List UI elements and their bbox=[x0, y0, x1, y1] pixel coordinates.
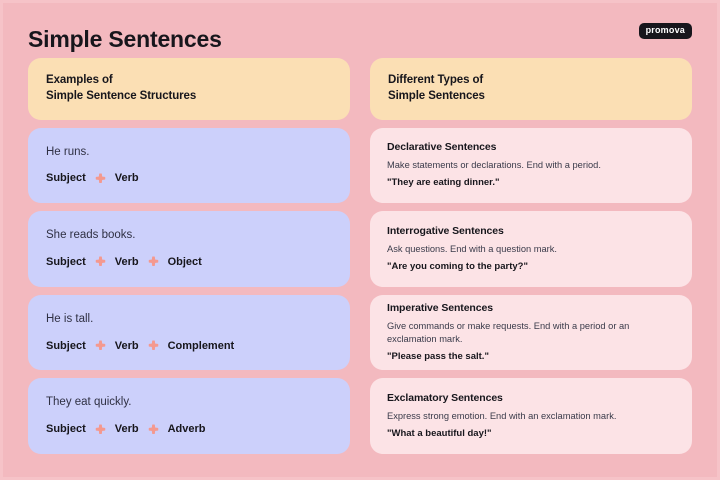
formula-term: Subject bbox=[46, 172, 86, 184]
structure-formula: Subject Verb Complement bbox=[46, 340, 332, 352]
formula-term: Verb bbox=[115, 423, 139, 435]
page-title: Simple Sentences bbox=[28, 20, 222, 51]
sentence-type-title: Declarative Sentences bbox=[387, 141, 676, 154]
plus-icon bbox=[148, 340, 159, 351]
left-column-header: Examples of Simple Sentence Structures bbox=[28, 58, 350, 120]
header-bar: Simple Sentences promova bbox=[28, 20, 692, 58]
right-header-line-2: Simple Sentences bbox=[388, 88, 674, 104]
infographic-page: Simple Sentences promova Examples of Sim… bbox=[0, 0, 720, 480]
sentence-type-title: Interrogative Sentences bbox=[387, 225, 676, 238]
formula-term: Subject bbox=[46, 256, 86, 268]
structure-example: She reads books. bbox=[46, 229, 332, 243]
formula-term: Subject bbox=[46, 423, 86, 435]
sentence-type-description: Ask questions. End with a question mark. bbox=[387, 243, 676, 256]
structure-formula: Subject Verb bbox=[46, 172, 332, 184]
formula-term: Verb bbox=[115, 340, 139, 352]
sentence-type-card: Interrogative Sentences Ask questions. E… bbox=[370, 211, 692, 287]
structure-card: They eat quickly. Subject Verb Adverb bbox=[28, 378, 350, 454]
plus-icon bbox=[148, 424, 159, 435]
formula-term: Verb bbox=[115, 172, 139, 184]
structure-example: He is tall. bbox=[46, 313, 332, 327]
sentence-type-description: Make statements or declarations. End wit… bbox=[387, 159, 676, 172]
plus-icon bbox=[148, 256, 159, 267]
formula-term: Object bbox=[168, 256, 202, 268]
sentence-type-example: "Please pass the salt." bbox=[387, 351, 676, 363]
right-column-header: Different Types of Simple Sentences bbox=[370, 58, 692, 120]
structure-formula: Subject Verb Adverb bbox=[46, 423, 332, 435]
structure-card: He runs. Subject Verb bbox=[28, 128, 350, 204]
sentence-type-title: Imperative Sentences bbox=[387, 302, 676, 315]
structure-example: He runs. bbox=[46, 146, 332, 160]
sentence-type-description: Give commands or make requests. End with… bbox=[387, 320, 676, 346]
plus-icon bbox=[95, 173, 106, 184]
plus-icon bbox=[95, 256, 106, 267]
formula-term: Subject bbox=[46, 340, 86, 352]
formula-term: Complement bbox=[168, 340, 235, 352]
plus-icon bbox=[95, 340, 106, 351]
structure-card: He is tall. Subject Verb Complement bbox=[28, 295, 350, 371]
sentence-type-card: Imperative Sentences Give commands or ma… bbox=[370, 295, 692, 371]
promova-logo: promova bbox=[639, 23, 692, 39]
sentence-type-example: "What a beautiful day!" bbox=[387, 428, 676, 440]
sentence-type-title: Exclamatory Sentences bbox=[387, 392, 676, 405]
sentence-type-card: Declarative Sentences Make statements or… bbox=[370, 128, 692, 204]
formula-term: Verb bbox=[115, 256, 139, 268]
plus-icon bbox=[95, 424, 106, 435]
formula-term: Adverb bbox=[168, 423, 206, 435]
sentence-type-description: Express strong emotion. End with an excl… bbox=[387, 410, 676, 423]
right-column: Different Types of Simple Sentences Decl… bbox=[370, 58, 692, 454]
left-header-line-2: Simple Sentence Structures bbox=[46, 88, 332, 104]
left-header-line-1: Examples of bbox=[46, 72, 332, 88]
structure-formula: Subject Verb Object bbox=[46, 256, 332, 268]
right-header-line-1: Different Types of bbox=[388, 72, 674, 88]
structure-example: They eat quickly. bbox=[46, 396, 332, 410]
columns-wrapper: Examples of Simple Sentence Structures H… bbox=[28, 58, 692, 454]
sentence-type-example: "Are you coming to the party?" bbox=[387, 261, 676, 273]
left-column: Examples of Simple Sentence Structures H… bbox=[28, 58, 350, 454]
sentence-type-card: Exclamatory Sentences Express strong emo… bbox=[370, 378, 692, 454]
sentence-type-example: "They are eating dinner." bbox=[387, 177, 676, 189]
structure-card: She reads books. Subject Verb Object bbox=[28, 211, 350, 287]
